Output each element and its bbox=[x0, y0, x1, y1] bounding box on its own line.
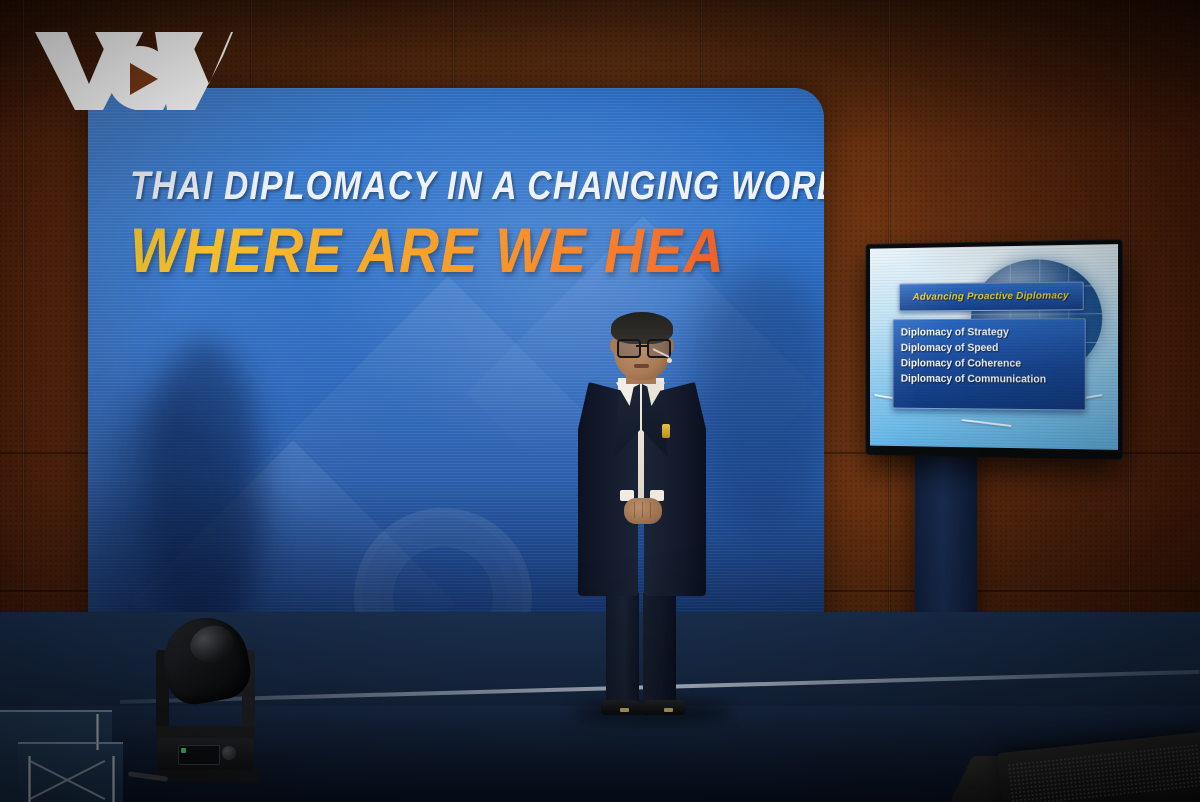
banner-title-line2: WHERE ARE WE HEADING? bbox=[130, 215, 721, 287]
eyeglasses-bridge bbox=[636, 345, 648, 347]
vov-watermark-logo bbox=[33, 18, 233, 110]
speaker-grill bbox=[1008, 744, 1200, 802]
stage-riser-lower bbox=[18, 742, 123, 802]
eyeglasses-lens-left bbox=[617, 339, 641, 358]
finger-line bbox=[650, 502, 651, 518]
trouser-left bbox=[606, 592, 639, 704]
trouser-right bbox=[643, 592, 676, 704]
shoe-buckle bbox=[620, 708, 629, 712]
light-status-led bbox=[181, 748, 186, 753]
speaker-person bbox=[566, 312, 716, 722]
presentation-tv: Advancing Proactive Diplomacy Diplomacy … bbox=[866, 240, 1122, 459]
light-control-knob[interactable] bbox=[222, 746, 236, 760]
finger-line bbox=[642, 502, 643, 518]
headset-microphone-tip bbox=[667, 358, 672, 363]
screenshot-root: THAI DIPLOMACY IN A CHANGING WORLD : WHE… bbox=[0, 0, 1200, 802]
lapel-pin bbox=[662, 424, 670, 438]
mouth bbox=[634, 364, 649, 368]
riser-support-leg bbox=[112, 756, 115, 802]
banner-title-block: THAI DIPLOMACY IN A CHANGING WORLD : WHE… bbox=[130, 164, 802, 287]
tv-screen: Advancing Proactive Diplomacy Diplomacy … bbox=[870, 244, 1118, 450]
tv-screen-glare bbox=[870, 244, 1118, 450]
moving-head-stage-light bbox=[150, 614, 262, 794]
finger-line bbox=[634, 502, 635, 518]
light-foot-plate bbox=[152, 770, 260, 782]
shoe-right bbox=[641, 700, 685, 715]
vov-logo-svg bbox=[33, 18, 233, 110]
banner-title-line1: THAI DIPLOMACY IN A CHANGING WORLD : bbox=[130, 164, 694, 209]
riser-support-leg bbox=[96, 714, 99, 750]
shoe-buckle bbox=[664, 708, 673, 712]
